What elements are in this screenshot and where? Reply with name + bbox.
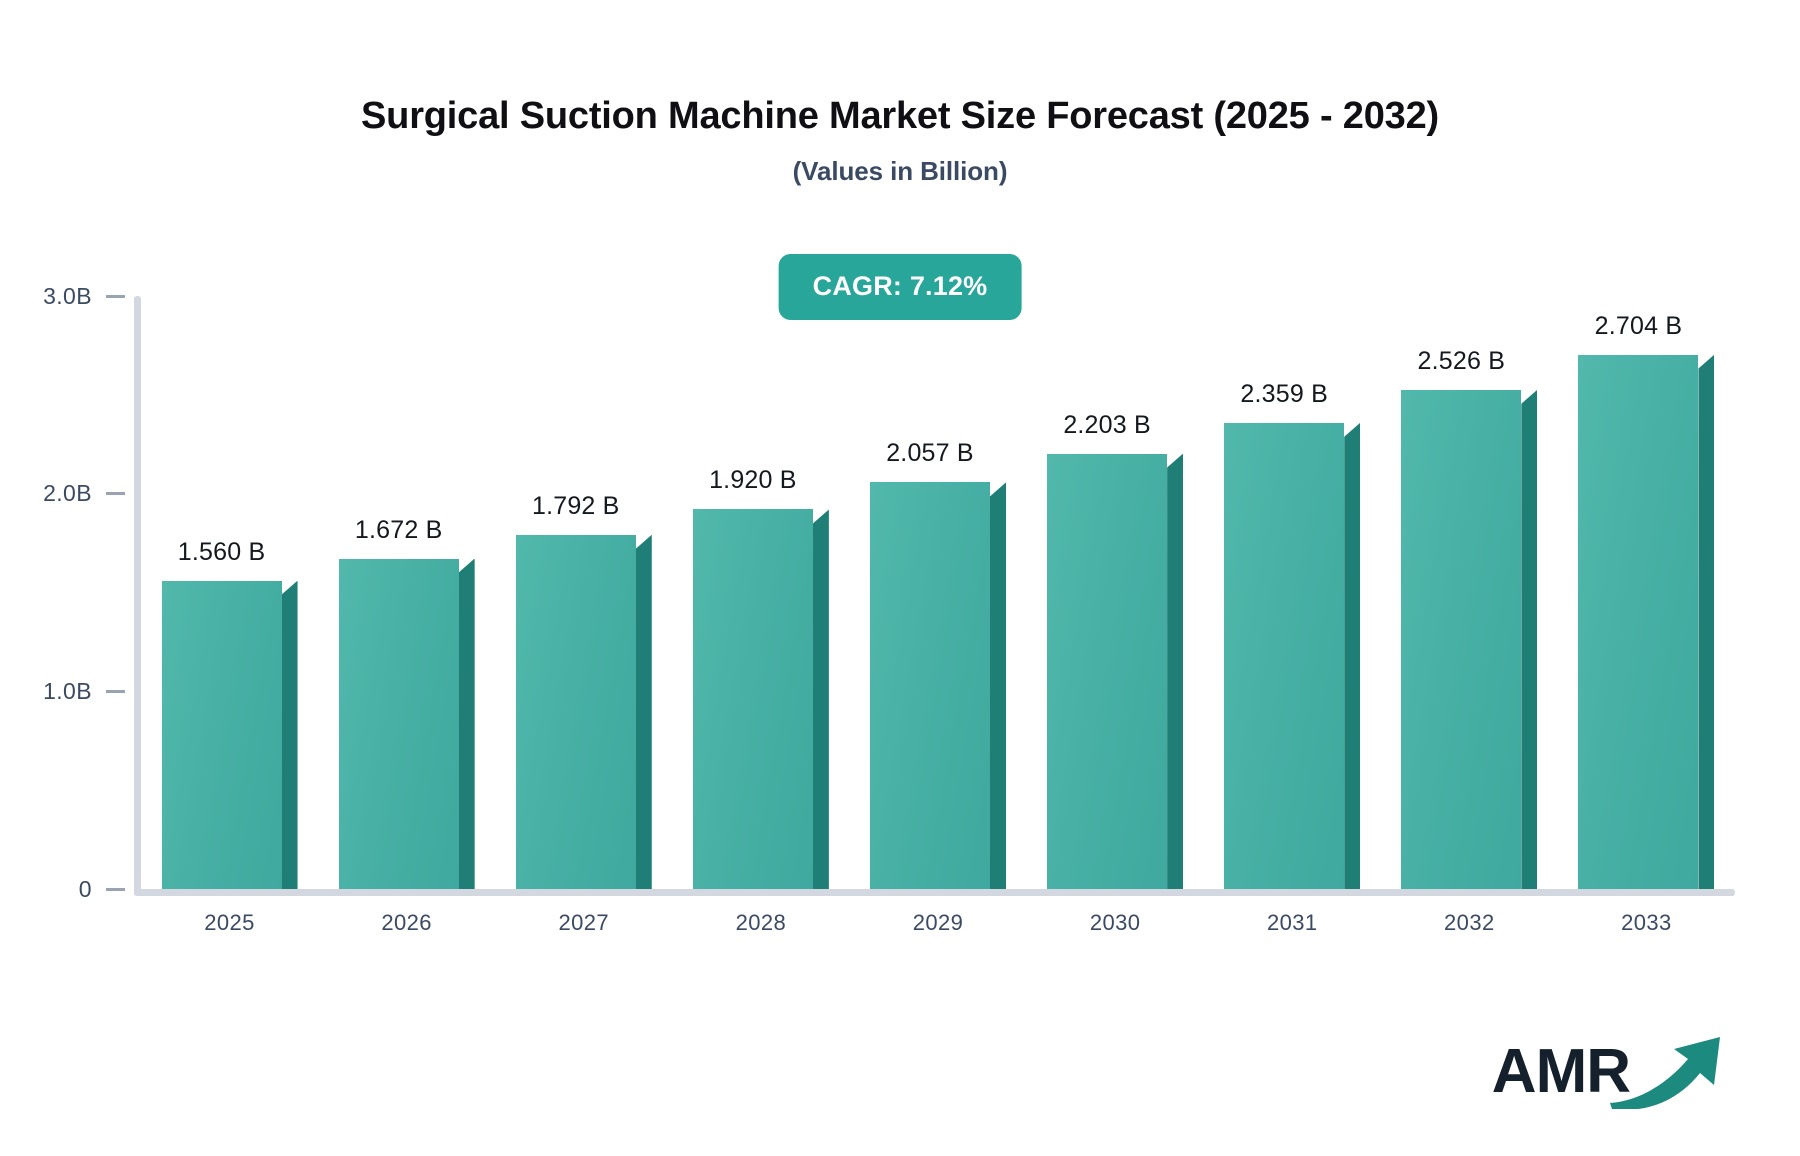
amr-logo: AMR — [1492, 1023, 1724, 1120]
bar-slot: 2.057 B — [870, 296, 1006, 889]
y-axis-tick: 2.0B — [0, 482, 134, 506]
bar-slot: 1.920 B — [693, 296, 829, 889]
bar-value-label: 1.920 B — [693, 466, 813, 495]
bar-2032[interactable] — [1401, 390, 1537, 889]
x-axis-label-2026: 2026 — [347, 910, 467, 936]
bar-front-face — [1401, 390, 1521, 889]
chart-plot-area: 1.560 B1.672 B1.792 B1.920 B2.057 B2.203… — [0, 0, 1800, 1156]
y-axis-tick-label: 2.0B — [43, 480, 92, 507]
bar-value-label: 2.704 B — [1578, 312, 1698, 341]
bar-front-face — [516, 535, 636, 889]
bar-value-label: 1.672 B — [339, 516, 459, 545]
bar-side-face — [1521, 390, 1537, 889]
bar-body — [1224, 423, 1360, 889]
x-axis-label-2030: 2030 — [1055, 910, 1175, 936]
bar-body — [339, 559, 475, 889]
bar-side-face — [282, 581, 298, 889]
bar-slot: 1.672 B — [339, 296, 475, 889]
bar-body — [693, 509, 829, 889]
bar-value-label: 1.560 B — [162, 538, 282, 567]
bar-value-label: 2.203 B — [1047, 411, 1167, 440]
y-axis-tick-label: 0 — [79, 876, 92, 903]
bar-front-face — [339, 559, 459, 889]
x-axis-label-2029: 2029 — [878, 910, 998, 936]
bar-2026[interactable] — [339, 559, 475, 889]
bar-2030[interactable] — [1047, 454, 1183, 889]
bar-value-label: 2.057 B — [870, 439, 990, 468]
bar-2031[interactable] — [1224, 423, 1360, 889]
bar-2027[interactable] — [516, 535, 652, 889]
x-axis-label-2027: 2027 — [524, 910, 644, 936]
y-axis-tick-label: 1.0B — [43, 678, 92, 705]
y-axis-tick-mark — [106, 888, 125, 891]
bar-front-face — [162, 581, 282, 889]
bar-side-face — [1344, 423, 1360, 889]
bar-slot: 2.526 B — [1401, 296, 1537, 889]
bar-slot: 1.792 B — [516, 296, 652, 889]
bar-value-label: 2.526 B — [1401, 347, 1521, 376]
bar-front-face — [1578, 355, 1698, 889]
bar-body — [516, 535, 652, 889]
y-axis-tick-mark — [106, 690, 125, 693]
bar-side-face — [636, 535, 652, 889]
bar-front-face — [870, 482, 990, 889]
bar-slot: 2.359 B — [1224, 296, 1360, 889]
y-axis-tick: 0 — [0, 877, 134, 901]
bar-side-face — [1167, 454, 1183, 889]
bar-body — [1401, 390, 1537, 889]
bar-2028[interactable] — [693, 509, 829, 889]
y-axis-line — [134, 296, 141, 896]
bar-value-label: 1.792 B — [516, 492, 636, 521]
growth-arrow-icon — [1604, 1023, 1724, 1114]
bar-side-face — [813, 509, 829, 889]
x-axis-label-2032: 2032 — [1409, 910, 1529, 936]
bar-slot: 2.704 B — [1578, 296, 1714, 889]
y-axis-tick: 3.0B — [0, 284, 134, 308]
bar-slot: 2.203 B — [1047, 296, 1183, 889]
y-axis-tick-mark — [106, 492, 125, 495]
bar-front-face — [1047, 454, 1167, 889]
y-axis-tick-label: 3.0B — [43, 283, 92, 310]
bar-body — [1578, 355, 1714, 889]
bar-side-face — [990, 482, 1006, 889]
x-axis-label-2031: 2031 — [1232, 910, 1352, 936]
bar-value-label: 2.359 B — [1224, 380, 1344, 409]
bar-side-face — [1698, 355, 1714, 889]
bar-body — [1047, 454, 1183, 889]
y-axis-tick-mark — [106, 295, 125, 298]
bar-body — [162, 581, 298, 889]
x-axis-label-2028: 2028 — [701, 910, 821, 936]
x-axis-label-2025: 2025 — [170, 910, 290, 936]
bar-series: 1.560 B1.672 B1.792 B1.920 B2.057 B2.203… — [141, 296, 1735, 889]
bar-side-face — [459, 559, 475, 889]
bar-front-face — [693, 509, 813, 889]
bar-2029[interactable] — [870, 482, 1006, 889]
x-axis-label-2033: 2033 — [1586, 910, 1706, 936]
bar-slot: 1.560 B — [162, 296, 298, 889]
bar-front-face — [1224, 423, 1344, 889]
bar-body — [870, 482, 1006, 889]
bar-2025[interactable] — [162, 581, 298, 889]
y-axis-tick: 1.0B — [0, 679, 134, 703]
x-axis-line — [134, 889, 1735, 896]
bar-2033[interactable] — [1578, 355, 1714, 889]
